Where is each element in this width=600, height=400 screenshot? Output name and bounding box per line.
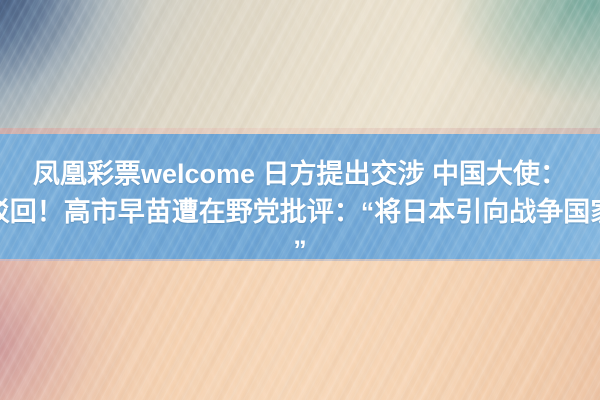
background-band-bottom [0, 261, 600, 400]
headline-text: 凤凰彩票welcome 日方提出交涉 中国大使： 驳回！高市早苗遭在野党批评：“… [0, 155, 600, 269]
headline-line-2: 驳回！高市早苗遭在野党批评：“将日本引向战争国家 [0, 193, 600, 231]
headline-line-1: 凤凰彩票welcome 日方提出交涉 中国大使： [0, 155, 600, 193]
headline-line-3: ” [0, 231, 600, 269]
banner-image: 凤凰彩票welcome 日方提出交涉 中国大使： 驳回！高市早苗遭在野党批评：“… [0, 0, 600, 400]
background-band-top [0, 0, 600, 134]
